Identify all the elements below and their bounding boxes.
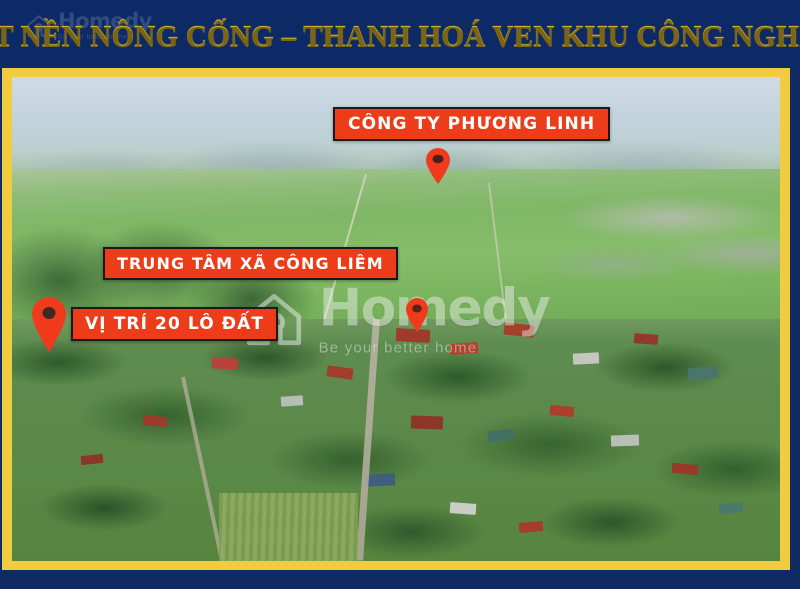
title-bar: Homedy Be your better home ĐẤT NỀN NÔNG …	[0, 0, 800, 72]
rooftop	[81, 453, 104, 464]
callout-label-cong-ty-phuong-linh[interactable]: CÔNG TY PHƯƠNG LINH	[333, 107, 610, 141]
rooftop	[572, 352, 599, 364]
rooftop	[611, 435, 639, 447]
map-pin-icon-vi-tri[interactable]	[30, 295, 68, 353]
distant-village	[411, 174, 780, 319]
rooftop	[280, 396, 303, 408]
rooftop	[718, 502, 743, 514]
rooftop	[449, 502, 476, 515]
callout-label-vi-tri-20-lo-dat[interactable]: VỊ TRÍ 20 LÔ ĐẤT	[71, 307, 278, 341]
map-pin-icon-cong-ty[interactable]	[425, 147, 451, 185]
rooftop	[211, 357, 238, 369]
callout-label-trung-tam-xa-cong-liem[interactable]: TRUNG TÂM XÃ CÔNG LIÊM	[103, 247, 398, 280]
village-vegetation	[12, 319, 780, 561]
map-pin-icon-trung-tam[interactable]	[405, 297, 429, 333]
crop-strip	[219, 493, 357, 561]
page-title: ĐẤT NỀN NÔNG CỐNG – THANH HOÁ VEN KHU CÔ…	[0, 18, 800, 54]
rooftop	[411, 415, 443, 429]
rooftop	[634, 333, 659, 345]
real-estate-poster: Homedy Be your better home ĐẤT NỀN NÔNG …	[0, 0, 800, 589]
rooftop	[365, 473, 396, 487]
